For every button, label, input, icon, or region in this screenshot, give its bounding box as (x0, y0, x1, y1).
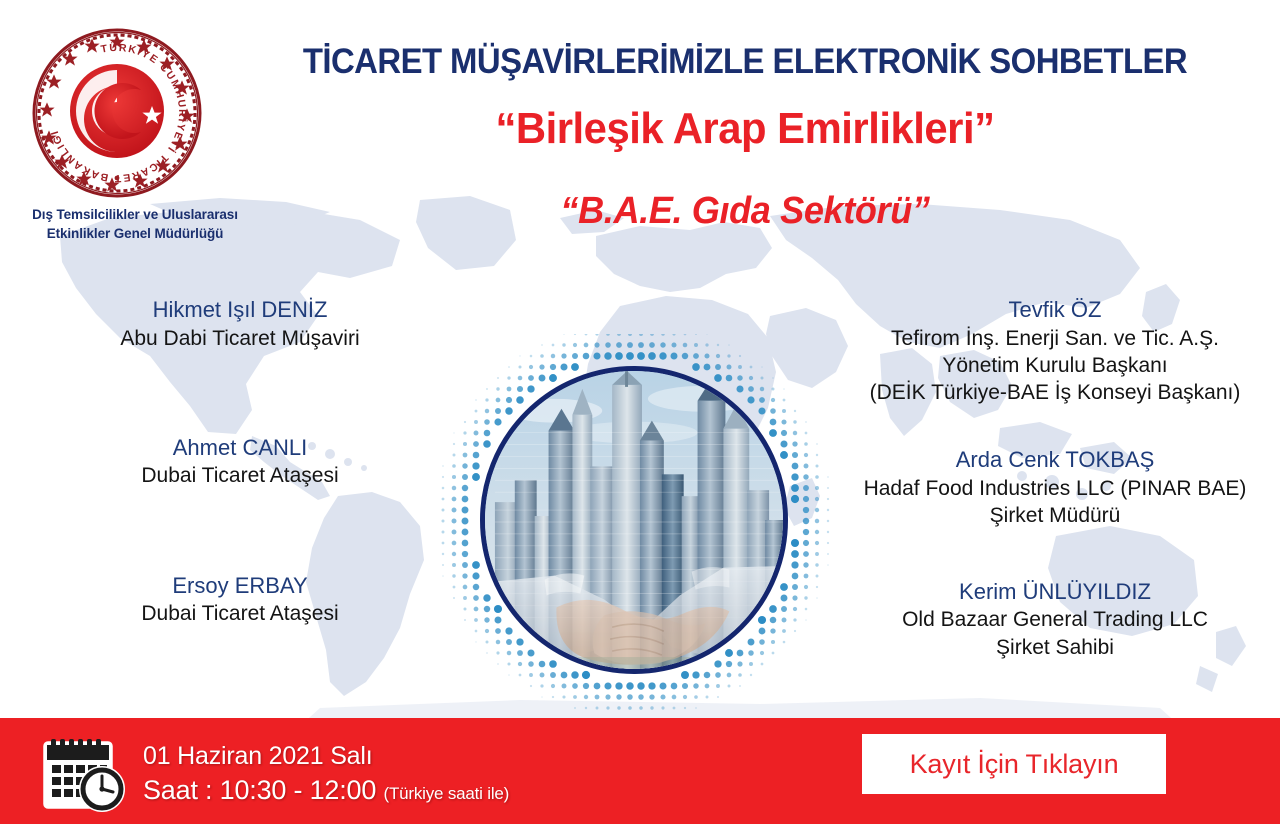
speaker-name: Tevfik ÖZ (830, 296, 1280, 325)
speaker-entry: Ahmet CANLI Dubai Ticaret Ataşesi (40, 434, 440, 490)
speaker-role: Dubai Ticaret Ataşesi (40, 462, 440, 489)
speaker-name: Ahmet CANLI (40, 434, 440, 463)
speaker-role: Yönetim Kurulu Başkanı (830, 352, 1280, 379)
speaker-role: Hadaf Food Industries LLC (PINAR BAE) (830, 475, 1280, 502)
center-graphic (432, 334, 832, 718)
speaker-name: Arda Cenk TOKBAŞ (830, 446, 1280, 475)
speaker-role: (DEİK Türkiye-BAE İş Konseyi Başkanı) (830, 379, 1280, 406)
department-line-1: Dış Temsilcilikler ve Uluslararası (0, 205, 270, 224)
speaker-name: Kerim ÜNLÜYILDIZ (830, 578, 1280, 607)
speaker-role: Şirket Sahibi (830, 634, 1280, 661)
dubai-skyline-handshake-photo (480, 366, 788, 674)
event-time-label: Saat : 10:30 - 12:00 (143, 775, 376, 805)
register-button[interactable]: Kayıt İçin Tıklayın (862, 734, 1166, 794)
speaker-role: Dubai Ticaret Ataşesi (40, 600, 440, 627)
speaker-entry: Arda Cenk TOKBAŞ Hadaf Food Industries L… (830, 446, 1280, 529)
webinar-poster: TÜRKİYE CUMHURİYETİ TİCARET BAKANLIĞI Dı… (0, 0, 1280, 824)
speaker-role: Old Bazaar General Trading LLC (830, 606, 1280, 633)
timezone-note: (Türkiye saati ile) (384, 784, 510, 803)
speaker-entry: Hikmet Işıl DENİZ Abu Dabi Ticaret Müşav… (40, 296, 440, 352)
ministry-logo: TÜRKİYE CUMHURİYETİ TİCARET BAKANLIĞI (22, 26, 212, 201)
speaker-entry: Ersoy ERBAY Dubai Ticaret Ataşesi (40, 572, 440, 628)
speaker-entry: Tevfik ÖZ Tefirom İnş. Enerji San. ve Ti… (830, 296, 1280, 406)
event-time: Saat : 10:30 - 12:00 (Türkiye saati ile) (143, 773, 509, 808)
speakers-left-column: Hikmet Işıl DENİZ Abu Dabi Ticaret Müşav… (40, 296, 440, 628)
speaker-entry: Kerim ÜNLÜYILDIZ Old Bazaar General Trad… (830, 578, 1280, 661)
speakers-right-column: Tevfik ÖZ Tefirom İnş. Enerji San. ve Ti… (830, 296, 1280, 661)
department-line-2: Etkinlikler Genel Müdürlüğü (0, 224, 270, 243)
event-datetime: 01 Haziran 2021 Salı Saat : 10:30 - 12:0… (143, 740, 509, 808)
calendar-clock-icon (38, 734, 134, 814)
speaker-role: Şirket Müdürü (830, 502, 1280, 529)
speaker-name: Ersoy ERBAY (40, 572, 440, 601)
department-name: Dış Temsilcilikler ve Uluslararası Etkin… (0, 205, 270, 243)
page-title: TİCARET MÜŞAVİRLERİMİZLE ELEKTRONİK SOHB… (256, 42, 1234, 82)
speaker-role: Abu Dabi Ticaret Müşaviri (40, 325, 440, 352)
speaker-name: Hikmet Işıl DENİZ (40, 296, 440, 325)
country-title: “Birleşik Arap Emirlikleri” (251, 104, 1239, 154)
sector-subtitle: “B.A.E. Gıda Sektörü” (251, 190, 1239, 233)
register-button-label: Kayıt İçin Tıklayın (910, 749, 1119, 780)
speaker-role: Tefirom İnş. Enerji San. ve Tic. A.Ş. (830, 325, 1280, 352)
event-date: 01 Haziran 2021 Salı (143, 740, 509, 773)
